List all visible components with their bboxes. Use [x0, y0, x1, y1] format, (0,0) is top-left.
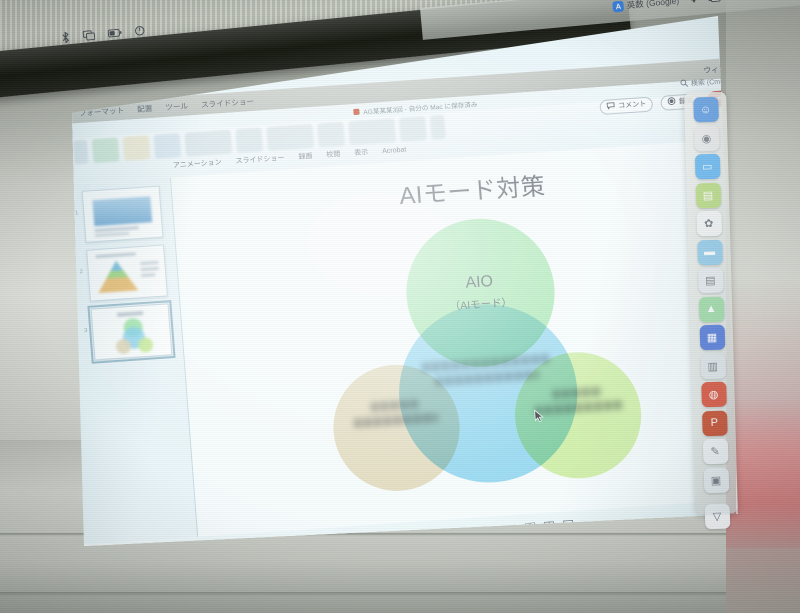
ime-indicator[interactable]: A 英数 (Google): [612, 0, 679, 12]
tab-review[interactable]: 校閲: [326, 149, 341, 160]
screen-mirroring-icon[interactable]: [83, 30, 96, 43]
photos-icon[interactable]: ✿: [696, 211, 722, 237]
chrome-icon[interactable]: ◉: [694, 125, 720, 151]
finder-icon[interactable]: ☺: [693, 97, 719, 123]
redacted-line: [552, 387, 603, 399]
powerpoint-window: フォーマット 配置 ツール スライドショー ウィンドウ ヘルプ AG某某某3回 …: [64, 56, 738, 546]
aio-circle-subtitle: （AIモード）: [449, 295, 512, 314]
thumbnail-number: 3: [84, 328, 88, 334]
record-icon: [668, 97, 677, 108]
normal-view-icon[interactable]: [506, 524, 518, 535]
aio-circle-title: AIO: [465, 273, 494, 293]
tab-acrobat[interactable]: Acrobat: [382, 146, 407, 155]
notes-label: ノート: [435, 531, 455, 539]
venn-diagram[interactable]: AIO （AIモード）: [310, 208, 660, 505]
powerpoint-icon[interactable]: P: [702, 410, 728, 436]
status-center-group: ▤ ノート ▭ コメント: [427, 520, 574, 541]
messages-icon[interactable]: ▭: [694, 154, 720, 180]
comment-button[interactable]: コメント: [600, 96, 654, 115]
ribbon-button[interactable]: [235, 127, 263, 153]
menu-item-format[interactable]: フォーマット: [78, 104, 124, 118]
comments-label: コメント: [471, 528, 497, 537]
reading-view-icon[interactable]: [544, 521, 555, 533]
tab-view[interactable]: 表示: [354, 147, 369, 158]
accessibility-label: アクセシビリティ: 調査が必要です: [180, 543, 279, 546]
minus-icon[interactable]: −: [678, 514, 682, 521]
dock-separator: [705, 498, 727, 499]
comment-icon: ▭: [463, 530, 470, 537]
powerpoint-icon: [353, 108, 359, 114]
news-icon[interactable]: ▤: [698, 268, 724, 294]
battery-icon[interactable]: [108, 28, 123, 39]
ribbon-button[interactable]: [154, 133, 182, 159]
photo-scene: A 英数 (Google) 1月29日 (木) 18:26: [0, 0, 800, 613]
wallet-icon[interactable]: ▬: [697, 239, 723, 265]
notes-icon: ▤: [428, 533, 435, 540]
tab-animation[interactable]: アニメーション: [173, 157, 222, 170]
menu-item-slideshow[interactable]: スライドショー: [201, 95, 255, 110]
firefox-icon[interactable]: ◍: [701, 382, 727, 408]
slide-thumbnail-1[interactable]: 1: [82, 186, 164, 243]
thumbnail-preview: [90, 249, 163, 298]
ribbon-button[interactable]: [123, 135, 151, 161]
menubar-clock[interactable]: 1月29日 (木) 18:26: [728, 0, 800, 2]
bluetooth-icon[interactable]: [61, 31, 71, 46]
slide-thumbnail-3[interactable]: 3: [91, 303, 173, 360]
menu-item-arrange[interactable]: 配置: [137, 102, 153, 114]
thumbnail-number: 2: [80, 269, 84, 275]
calculator-icon[interactable]: ▥: [700, 353, 726, 379]
ribbon-button[interactable]: [430, 115, 446, 140]
ribbon-button[interactable]: [399, 116, 427, 142]
display-icon[interactable]: [708, 0, 721, 2]
control-center-icon[interactable]: [134, 25, 145, 38]
notes-button[interactable]: ▤ ノート: [427, 529, 455, 540]
ime-badge-icon: A: [612, 0, 624, 12]
input-source-label: 英数 (Google): [626, 0, 679, 11]
ribbon-button[interactable]: [92, 137, 120, 163]
slide-canvas[interactable]: AIモード対策 AIO （AIモード）: [171, 137, 738, 537]
maps-icon[interactable]: ▲: [698, 296, 724, 322]
search-icon: [680, 79, 689, 90]
menu-item-tools[interactable]: ツール: [165, 100, 189, 113]
microsoft-icon[interactable]: ▦: [699, 325, 725, 351]
status-left-group: スライド 3/3 日本語 ♿ アクセシビリティ: 調査が必要です: [98, 541, 279, 546]
editor-body: 1 2: [70, 137, 738, 544]
notes-app-icon[interactable]: ▤: [695, 182, 721, 208]
comment-label: コメント: [618, 99, 647, 111]
trash-icon[interactable]: ▽: [704, 503, 730, 529]
projection-screen: フォーマット 配置 ツール スライドショー ウィンドウ ヘルプ AG某某某3回 …: [58, 16, 738, 546]
slideshow-icon[interactable]: [563, 520, 574, 532]
ribbon-button[interactable]: [317, 122, 345, 148]
comments-button[interactable]: ▭ コメント: [463, 526, 497, 537]
downloads-folder-icon[interactable]: ▣: [703, 467, 729, 493]
ribbon-button[interactable]: [73, 140, 89, 165]
thumbnail-preview: [86, 190, 159, 239]
preview-icon[interactable]: ✎: [702, 439, 728, 465]
slide-sorter-icon[interactable]: [526, 523, 537, 535]
tab-slideshow[interactable]: スライドショー: [235, 153, 285, 166]
wall-seam-lower: [0, 592, 800, 596]
accessibility-status[interactable]: ♿ アクセシビリティ: 調査が必要です: [172, 541, 279, 546]
thumbnail-preview: [95, 308, 168, 357]
slide-thumbnail-2[interactable]: 2: [86, 244, 168, 301]
comment-icon: [607, 102, 616, 112]
redacted-line: [370, 399, 419, 411]
screen-surface: フォーマット 配置 ツール スライドショー ウィンドウ ヘルプ AG某某某3回 …: [58, 16, 738, 546]
thumbnail-number: 1: [75, 210, 79, 216]
tab-record[interactable]: 録画: [298, 151, 313, 162]
wall-color-band: [726, 398, 800, 548]
wifi-icon[interactable]: [688, 0, 700, 4]
